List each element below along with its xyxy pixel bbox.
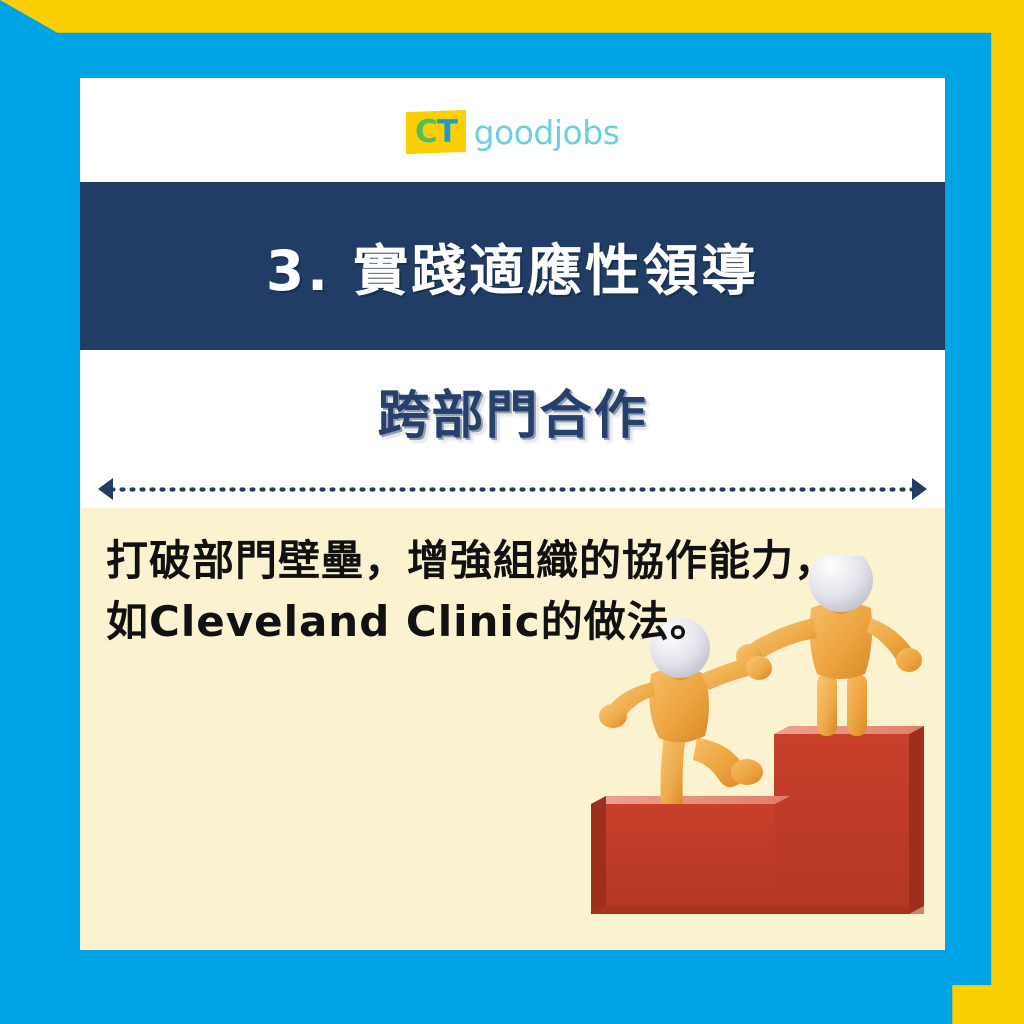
title-banner: 3. 實踐適應性領導 <box>80 182 945 350</box>
dotted-line <box>113 486 912 493</box>
dotted-divider <box>98 478 927 500</box>
subtitle: 跨部門合作 <box>377 373 647 448</box>
logo-letter-t: T <box>436 114 456 150</box>
logo-wordmark: goodjobs <box>474 116 620 149</box>
body-text: 打破部門壁壘，增強組織的協作能力， 如Cleveland Clinic的做法。 <box>106 530 915 653</box>
ctgoodjobs-logo[interactable]: CT goodjobs <box>406 111 620 153</box>
page-title: 3. 實踐適應性領導 <box>266 226 759 306</box>
logo-letter-c: C <box>415 114 437 150</box>
ct-logo-mark: CT <box>406 110 466 154</box>
arrow-left-icon <box>98 478 113 500</box>
content-card: CT goodjobs 3. 實踐適應性領導 跨部門合作 打破部門 <box>80 78 945 950</box>
subtitle-zone: 跨部門合作 <box>80 350 945 470</box>
logo-bar: CT goodjobs <box>80 78 945 182</box>
divider-zone <box>80 470 945 508</box>
body-zone: 打破部門壁壘，增強組織的協作能力， 如Cleveland Clinic的做法。 <box>80 508 945 950</box>
body-line-1: 打破部門壁壘，增強組織的協作能力， <box>106 530 915 591</box>
body-line-2: 如Cleveland Clinic的做法。 <box>106 591 915 652</box>
arrow-right-icon <box>912 478 927 500</box>
poster-root: CT goodjobs 3. 實踐適應性領導 跨部門合作 打破部門 <box>0 0 1024 1024</box>
